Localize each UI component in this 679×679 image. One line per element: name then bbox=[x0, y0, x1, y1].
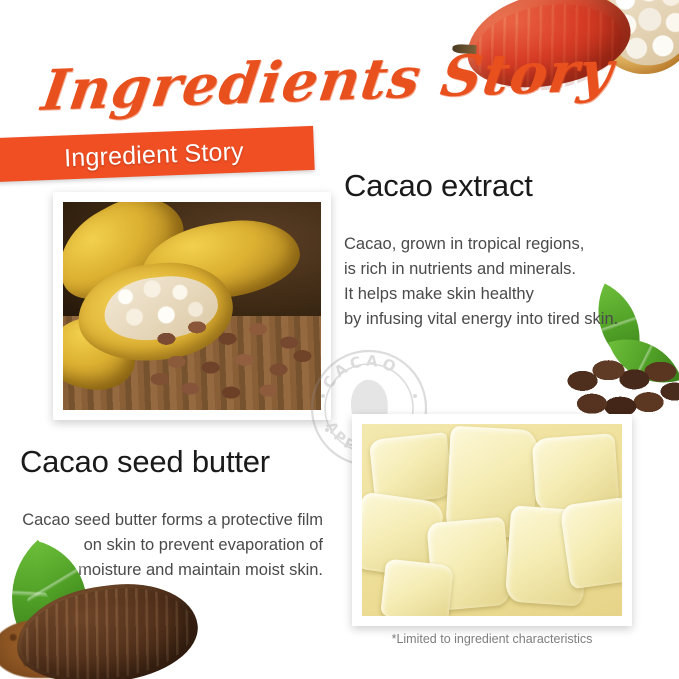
butter-chunk bbox=[559, 497, 622, 590]
ingredients-story-infographic: Ingredients Story Ingredient Story Cacao… bbox=[0, 0, 679, 679]
cacao-extract-heading: Cacao extract bbox=[344, 168, 533, 204]
svg-text:CACAO: CACAO bbox=[319, 352, 402, 393]
cacao-seed-butter-heading: Cacao seed butter bbox=[20, 444, 270, 480]
butter-chunk bbox=[380, 559, 453, 616]
page-title: Ingredients Story bbox=[38, 38, 618, 124]
cocoa-butter-artwork bbox=[362, 424, 622, 616]
cocoa-butter-photo bbox=[362, 424, 622, 616]
footnote-text: *Limited to ingredient characteristics bbox=[352, 632, 632, 646]
cacao-pods-artwork bbox=[63, 202, 321, 410]
cacao-pods-photo-frame bbox=[53, 192, 331, 420]
cacao-extract-description: Cacao, grown in tropical regions, is ric… bbox=[344, 232, 618, 332]
cacao-beans-pile bbox=[146, 310, 316, 406]
cacao-pods-photo bbox=[63, 202, 321, 410]
cocoa-butter-photo-frame bbox=[352, 414, 632, 626]
